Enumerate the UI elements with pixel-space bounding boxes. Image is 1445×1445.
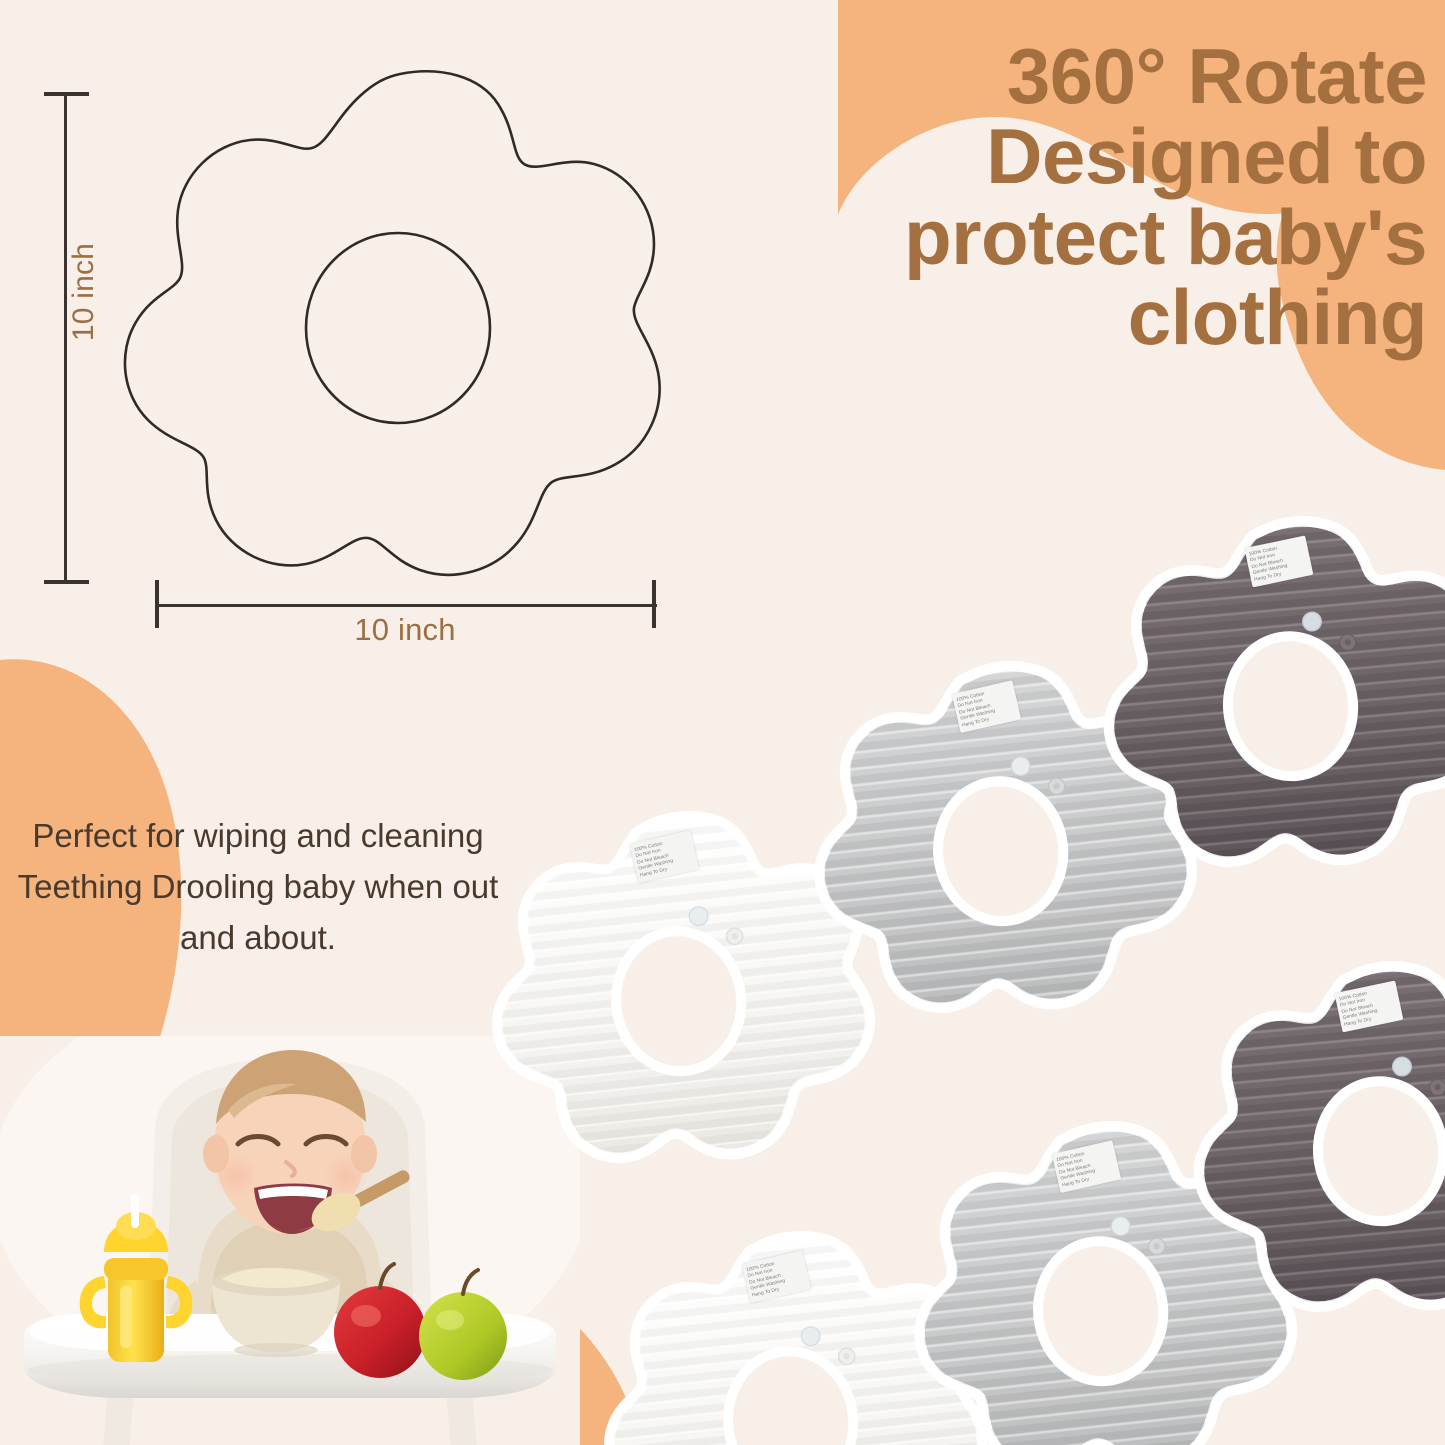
vertical-dimension-cap-top: [44, 92, 89, 96]
bib-dark-gray-top[interactable]: 100% Cotton Do Not Iron Do Not Bleach Ge…: [1072, 468, 1445, 931]
feature-description: Perfect for wiping and cleaning Teething…: [8, 810, 508, 963]
horizontal-dimension-label: 10 inch: [155, 612, 655, 648]
dimension-diagram: 10 inch 10 inch: [0, 0, 700, 680]
horizontal-dimension-line: [157, 604, 657, 607]
vertical-dimension-label: 10 inch: [67, 202, 101, 382]
bib-dark-gray-bottom[interactable]: 100% Cotton Do Not Iron Do Not Bleach Ge…: [1162, 913, 1445, 1376]
sippy-cup-straw: [131, 1194, 139, 1228]
headline-line-4: clothing: [787, 277, 1427, 357]
infographic-canvas: 10 inch 10 inch 360° Rotate Designed to …: [0, 0, 1445, 1445]
page-title: 360° Rotate Designed to protect baby's c…: [787, 36, 1427, 357]
headline-line-2: Designed to: [787, 116, 1427, 196]
neck-opening-outline-icon: [306, 233, 490, 423]
headline-line-3: protect baby's: [787, 197, 1427, 277]
vertical-dimension-cap-bottom: [44, 580, 89, 584]
headline-line-1: 360° Rotate: [787, 36, 1427, 116]
bib-shape-outline-icon: [120, 60, 680, 605]
